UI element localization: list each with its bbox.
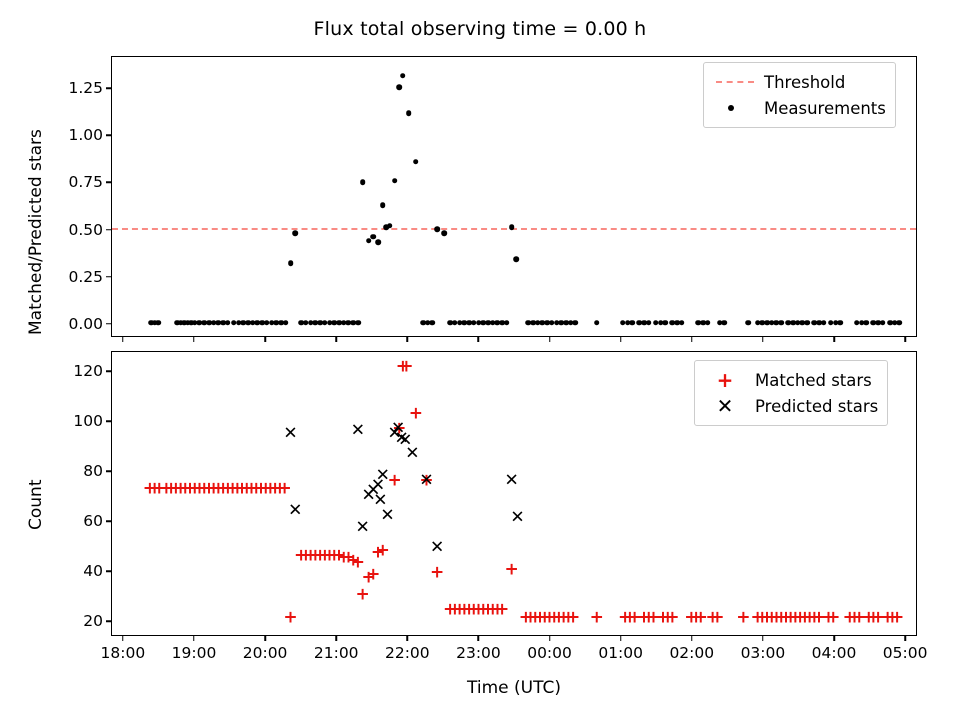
- data-point-measurements: [795, 320, 801, 326]
- data-point-matched-stars: +: [356, 587, 370, 604]
- x-tick-label: 22:00: [385, 644, 430, 662]
- data-point-measurements: [245, 320, 251, 326]
- data-point-measurements: [594, 320, 600, 326]
- data-point-measurements: [722, 320, 728, 326]
- data-point-measurements: [375, 240, 381, 246]
- data-point-measurements: [264, 320, 270, 326]
- data-point-measurements: [705, 320, 711, 326]
- data-point-matched-stars: +: [318, 547, 332, 564]
- data-point-matched-stars: +: [164, 480, 178, 497]
- y-tick-mark: [106, 276, 111, 278]
- data-point-measurements: [800, 320, 806, 326]
- data-point-matched-stars: +: [807, 609, 821, 626]
- y-tick-mark: [106, 182, 111, 184]
- data-point-measurements: [549, 320, 555, 326]
- data-point-measurements: [646, 320, 652, 326]
- data-point-predicted-stars: ✕: [376, 468, 390, 485]
- data-point-measurements: [641, 320, 647, 326]
- data-point-matched-stars: +: [443, 602, 457, 619]
- data-point-predicted-stars: ✕: [351, 423, 365, 440]
- x-tick-mark: [904, 636, 906, 641]
- data-point-matched-stars: +: [665, 609, 679, 626]
- y-tick-label: 80: [43, 462, 103, 480]
- y-tick-mark: [106, 420, 111, 422]
- data-point-matched-stars: +: [862, 609, 876, 626]
- x-tick-mark: [478, 337, 480, 342]
- data-point-matched-stars: +: [779, 609, 793, 626]
- data-point-measurements: [188, 320, 194, 326]
- data-point-measurements: [366, 238, 372, 244]
- y-tick-label: 60: [43, 512, 103, 530]
- data-point-measurements: [540, 320, 546, 326]
- x-tick-label: 20:00: [243, 644, 288, 662]
- data-point-matched-stars: +: [486, 602, 500, 619]
- data-point-measurements: [573, 320, 579, 326]
- x-tick-mark: [691, 337, 693, 342]
- data-point-matched-stars: +: [471, 602, 485, 619]
- data-point-matched-stars: +: [159, 480, 173, 497]
- data-point-measurements: [653, 320, 659, 326]
- data-point-predicted-stars: ✕: [430, 540, 444, 557]
- data-point-measurements: [216, 320, 222, 326]
- data-point-matched-stars: +: [495, 602, 509, 619]
- data-point-measurements: [892, 320, 898, 326]
- x-axis-label: Time (UTC): [111, 678, 917, 698]
- data-point-measurements: [864, 320, 870, 326]
- x-tick-mark: [762, 636, 764, 641]
- data-point-measurements: [152, 320, 158, 326]
- data-point-matched-stars: +: [392, 420, 406, 437]
- data-point-measurements: [225, 320, 231, 326]
- y-tick-mark: [106, 87, 111, 89]
- data-point-measurements: [392, 178, 398, 184]
- data-point-matched-stars: +: [880, 609, 894, 626]
- data-point-matched-stars: +: [736, 609, 750, 626]
- data-point-matched-stars: +: [211, 480, 225, 497]
- data-point-measurements: [308, 320, 314, 326]
- data-point-measurements: [833, 320, 839, 326]
- data-point-measurements: [185, 320, 191, 326]
- data-point-measurements: [504, 320, 510, 326]
- data-point-measurements: [350, 320, 356, 326]
- data-point-matched-stars: +: [143, 480, 157, 497]
- data-point-measurements: [220, 320, 226, 326]
- data-point-measurements: [816, 320, 822, 326]
- data-point-matched-stars: +: [528, 609, 542, 626]
- data-point-predicted-stars: ✕: [288, 502, 302, 519]
- data-point-measurements: [322, 320, 328, 326]
- data-point-matched-stars: +: [188, 480, 202, 497]
- y-tick-mark: [106, 134, 111, 136]
- y-tick-mark: [106, 370, 111, 372]
- data-point-matched-stars: +: [202, 480, 216, 497]
- x-tick-mark: [691, 636, 693, 641]
- x-tick-label: 18:00: [101, 644, 146, 662]
- data-point-predicted-stars: ✕: [387, 425, 401, 442]
- legend-label-measurements: Measurements: [758, 99, 886, 118]
- data-point-measurements: [336, 320, 342, 326]
- data-point-matched-stars: +: [183, 480, 197, 497]
- data-point-matched-stars: +: [561, 609, 575, 626]
- data-point-matched-stars: +: [457, 602, 471, 619]
- data-point-measurements: [499, 320, 505, 326]
- data-point-measurements: [525, 320, 531, 326]
- data-point-measurements: [759, 320, 765, 326]
- data-point-measurements: [821, 320, 827, 326]
- data-point-matched-stars: +: [337, 550, 351, 567]
- data-point-matched-stars: +: [346, 552, 360, 569]
- data-point-measurements: [346, 320, 352, 326]
- data-point-measurements: [259, 320, 265, 326]
- y-tick-mark: [106, 323, 111, 325]
- data-point-measurements: [568, 320, 574, 326]
- data-point-measurements: [317, 320, 323, 326]
- y-tick-mark: [106, 520, 111, 522]
- data-point-measurements: [625, 320, 631, 326]
- data-point-measurements: [240, 320, 246, 326]
- y-tick-label: 100: [43, 412, 103, 430]
- data-point-measurements: [786, 320, 792, 326]
- data-point-matched-stars: +: [366, 567, 380, 584]
- x-tick-label: 21:00: [314, 644, 359, 662]
- data-point-measurements: [430, 320, 436, 326]
- data-point-measurements: [269, 320, 275, 326]
- data-point-measurements: [178, 320, 184, 326]
- data-point-measurements: [206, 320, 212, 326]
- data-point-measurements: [514, 256, 520, 262]
- legend-item-predicted-stars: ✕ Predicted stars: [703, 393, 878, 419]
- data-point-matched-stars: +: [656, 609, 670, 626]
- data-point-measurements: [774, 320, 780, 326]
- data-point-measurements: [535, 320, 541, 326]
- data-point-matched-stars: +: [765, 609, 779, 626]
- data-point-measurements: [778, 320, 784, 326]
- data-point-measurements: [620, 320, 626, 326]
- y-tick-label: 20: [43, 612, 103, 630]
- data-point-matched-stars: +: [169, 480, 183, 497]
- y-tick-label: 0.75: [43, 173, 103, 191]
- data-point-measurements: [530, 320, 536, 326]
- data-point-measurements: [283, 320, 289, 326]
- data-point-matched-stars: +: [821, 609, 835, 626]
- data-point-measurements: [629, 320, 635, 326]
- threshold-line: [112, 228, 916, 230]
- data-point-matched-stars: +: [661, 609, 675, 626]
- legend-bottom: + Matched stars ✕ Predicted stars: [694, 360, 888, 426]
- data-point-predicted-stars: ✕: [283, 425, 297, 442]
- data-point-predicted-stars: ✕: [366, 483, 380, 500]
- data-point-matched-stars: +: [476, 602, 490, 619]
- data-point-measurements: [211, 320, 217, 326]
- data-point-measurements: [192, 320, 198, 326]
- data-point-matched-stars: +: [376, 542, 390, 559]
- data-point-matched-stars: +: [207, 480, 221, 497]
- x-tick-mark: [549, 636, 551, 641]
- data-point-matched-stars: +: [351, 555, 365, 572]
- data-point-matched-stars: +: [642, 609, 656, 626]
- data-point-measurements: [425, 320, 431, 326]
- data-point-measurements: [462, 320, 468, 326]
- data-point-measurements: [174, 320, 180, 326]
- data-point-matched-stars: +: [566, 609, 580, 626]
- data-point-matched-stars: +: [327, 547, 341, 564]
- x-tick-mark: [264, 337, 266, 342]
- y-tick-mark: [106, 620, 111, 622]
- x-tick-mark: [620, 337, 622, 342]
- data-point-matched-stars: +: [263, 480, 277, 497]
- data-point-matched-stars: +: [283, 609, 297, 626]
- x-tick-mark: [335, 337, 337, 342]
- data-point-matched-stars: +: [240, 480, 254, 497]
- cross-icon: ✕: [703, 394, 749, 418]
- data-point-matched-stars: +: [419, 473, 433, 490]
- data-point-measurements: [278, 320, 284, 326]
- legend-item-matched-stars: + Matched stars: [703, 367, 878, 393]
- data-point-matched-stars: +: [847, 609, 861, 626]
- data-point-predicted-stars: ✕: [510, 510, 524, 527]
- data-point-matched-stars: +: [452, 602, 466, 619]
- data-point-matched-stars: +: [192, 480, 206, 497]
- data-point-measurements: [441, 230, 447, 236]
- data-point-measurements: [313, 320, 319, 326]
- data-point-measurements: [544, 320, 550, 326]
- x-tick-mark: [193, 337, 195, 342]
- data-point-matched-stars: +: [225, 480, 239, 497]
- x-tick-mark: [335, 636, 337, 641]
- data-point-matched-stars: +: [268, 480, 282, 497]
- data-point-matched-stars: +: [788, 609, 802, 626]
- data-point-measurements: [288, 260, 294, 266]
- data-point-measurements: [755, 320, 761, 326]
- data-point-matched-stars: +: [235, 480, 249, 497]
- dot-icon: [712, 96, 758, 120]
- data-point-measurements: [201, 320, 207, 326]
- data-point-matched-stars: +: [387, 473, 401, 490]
- data-point-matched-stars: +: [689, 609, 703, 626]
- data-point-matched-stars: +: [890, 609, 904, 626]
- data-point-measurements: [485, 320, 491, 326]
- data-point-measurements: [828, 320, 834, 326]
- data-point-matched-stars: +: [793, 609, 807, 626]
- data-point-predicted-stars: ✕: [373, 492, 387, 509]
- y-tick-mark: [106, 229, 111, 231]
- legend-top: Threshold Measurements: [703, 62, 896, 128]
- data-point-measurements: [838, 320, 844, 326]
- data-point-matched-stars: +: [230, 480, 244, 497]
- data-point-measurements: [457, 320, 463, 326]
- data-point-matched-stars: +: [221, 480, 235, 497]
- data-point-measurements: [292, 230, 298, 236]
- data-point-measurements: [255, 320, 261, 326]
- legend-label-matched-stars: Matched stars: [749, 371, 872, 390]
- data-point-measurements: [769, 320, 775, 326]
- data-point-matched-stars: +: [623, 609, 637, 626]
- data-point-matched-stars: +: [308, 547, 322, 564]
- data-point-measurements: [663, 320, 669, 326]
- data-point-matched-stars: +: [299, 547, 313, 564]
- data-point-matched-stars: +: [277, 480, 291, 497]
- data-point-matched-stars: +: [769, 609, 783, 626]
- y-tick-mark: [106, 570, 111, 572]
- y-tick-label: 40: [43, 562, 103, 580]
- data-point-measurements: [897, 320, 903, 326]
- x-tick-mark: [122, 337, 124, 342]
- data-point-matched-stars: +: [552, 609, 566, 626]
- data-point-matched-stars: +: [259, 480, 273, 497]
- x-tick-label: 02:00: [669, 644, 714, 662]
- data-point-matched-stars: +: [430, 564, 444, 581]
- data-point-matched-stars: +: [467, 602, 481, 619]
- data-point-measurements: [466, 320, 472, 326]
- x-tick-mark: [833, 337, 835, 342]
- data-point-matched-stars: +: [341, 550, 355, 567]
- data-point-matched-stars: +: [866, 609, 880, 626]
- data-point-matched-stars: +: [637, 609, 651, 626]
- x-tick-label: 00:00: [527, 644, 572, 662]
- data-point-measurements: [764, 320, 770, 326]
- x-tick-mark: [122, 636, 124, 641]
- legend-item-measurements: Measurements: [712, 95, 886, 121]
- data-point-measurements: [871, 320, 877, 326]
- data-point-measurements: [854, 320, 860, 326]
- data-point-predicted-stars: ✕: [398, 433, 412, 450]
- data-point-predicted-stars: ✕: [419, 473, 433, 490]
- y-tick-label: 0.00: [43, 315, 103, 333]
- data-point-matched-stars: +: [254, 480, 268, 497]
- data-point-measurements: [554, 320, 560, 326]
- data-point-measurements: [303, 320, 309, 326]
- x-tick-label: 04:00: [812, 644, 857, 662]
- data-point-predicted-stars: ✕: [380, 507, 394, 524]
- data-point-matched-stars: +: [399, 358, 413, 375]
- legend-label-predicted-stars: Predicted stars: [749, 397, 878, 416]
- data-point-measurements: [406, 110, 412, 116]
- data-point-matched-stars: +: [313, 547, 327, 564]
- data-point-matched-stars: +: [481, 602, 495, 619]
- data-point-predicted-stars: ✕: [505, 473, 519, 490]
- data-point-matched-stars: +: [871, 609, 885, 626]
- x-tick-mark: [407, 636, 409, 641]
- data-point-matched-stars: +: [618, 609, 632, 626]
- data-point-matched-stars: +: [750, 609, 764, 626]
- data-point-measurements: [696, 320, 702, 326]
- data-point-matched-stars: +: [812, 609, 826, 626]
- data-point-matched-stars: +: [826, 609, 840, 626]
- data-point-predicted-stars: ✕: [391, 420, 405, 437]
- x-tick-mark: [478, 636, 480, 641]
- data-point-matched-stars: +: [784, 609, 798, 626]
- data-point-matched-stars: +: [462, 602, 476, 619]
- data-point-matched-stars: +: [684, 609, 698, 626]
- x-tick-mark: [407, 337, 409, 342]
- data-point-matched-stars: +: [322, 547, 336, 564]
- data-point-measurements: [298, 320, 304, 326]
- data-point-matched-stars: +: [760, 609, 774, 626]
- x-tick-label: 05:00: [883, 644, 928, 662]
- data-point-matched-stars: +: [852, 609, 866, 626]
- x-tick-mark: [833, 636, 835, 641]
- x-tick-label: 03:00: [741, 644, 786, 662]
- data-point-measurements: [658, 320, 664, 326]
- data-point-measurements: [563, 320, 569, 326]
- y-tick-label: 0.25: [43, 268, 103, 286]
- data-point-measurements: [887, 320, 893, 326]
- data-point-measurements: [397, 84, 403, 90]
- data-point-measurements: [490, 320, 496, 326]
- data-point-measurements: [471, 320, 477, 326]
- data-point-predicted-stars: ✕: [405, 445, 419, 462]
- data-point-measurements: [400, 73, 406, 79]
- data-point-matched-stars: +: [590, 609, 604, 626]
- data-point-measurements: [452, 320, 458, 326]
- data-point-matched-stars: +: [706, 609, 720, 626]
- data-point-matched-stars: +: [885, 609, 899, 626]
- data-point-matched-stars: +: [448, 602, 462, 619]
- data-point-predicted-stars: ✕: [395, 430, 409, 447]
- data-point-measurements: [231, 320, 237, 326]
- y-tick-label: 1.00: [43, 126, 103, 144]
- dashed-line-icon: [712, 70, 758, 94]
- data-point-matched-stars: +: [396, 358, 410, 375]
- data-point-measurements: [197, 320, 203, 326]
- y-tick-label: 120: [43, 362, 103, 380]
- data-point-measurements: [670, 320, 676, 326]
- data-point-measurements: [880, 320, 886, 326]
- data-point-matched-stars: +: [173, 480, 187, 497]
- data-point-measurements: [360, 180, 366, 186]
- figure-canvas: Flux total observing time = 0.00 h Match…: [0, 0, 960, 720]
- x-tick-mark: [264, 636, 266, 641]
- data-point-measurements: [274, 320, 280, 326]
- x-tick-mark: [193, 636, 195, 641]
- data-point-matched-stars: +: [843, 609, 857, 626]
- data-point-measurements: [700, 320, 706, 326]
- data-point-matched-stars: +: [533, 609, 547, 626]
- data-point-measurements: [327, 320, 333, 326]
- data-point-matched-stars: +: [755, 609, 769, 626]
- data-point-measurements: [790, 320, 796, 326]
- data-point-matched-stars: +: [798, 609, 812, 626]
- data-point-matched-stars: +: [216, 480, 230, 497]
- data-point-measurements: [250, 320, 256, 326]
- x-tick-label: 19:00: [172, 644, 217, 662]
- data-point-matched-stars: +: [147, 480, 161, 497]
- data-point-measurements: [679, 320, 685, 326]
- x-tick-mark: [549, 337, 551, 342]
- data-point-matched-stars: +: [505, 562, 519, 579]
- data-point-matched-stars: +: [542, 609, 556, 626]
- x-tick-mark: [904, 337, 906, 342]
- data-point-predicted-stars: ✕: [361, 487, 375, 504]
- x-tick-mark: [762, 337, 764, 342]
- data-point-matched-stars: +: [178, 480, 192, 497]
- y-tick-label: 0.50: [43, 221, 103, 239]
- data-point-measurements: [355, 320, 361, 326]
- data-point-matched-stars: +: [710, 609, 724, 626]
- data-point-measurements: [447, 320, 453, 326]
- data-point-measurements: [637, 320, 643, 326]
- data-point-measurements: [875, 320, 881, 326]
- data-point-matched-stars: +: [361, 569, 375, 586]
- x-tick-mark: [620, 636, 622, 641]
- x-tick-label: 01:00: [598, 644, 643, 662]
- data-point-measurements: [812, 320, 818, 326]
- data-point-matched-stars: +: [294, 547, 308, 564]
- data-point-measurements: [331, 320, 337, 326]
- data-point-measurements: [495, 320, 501, 326]
- data-point-measurements: [236, 320, 242, 326]
- data-point-measurements: [804, 320, 810, 326]
